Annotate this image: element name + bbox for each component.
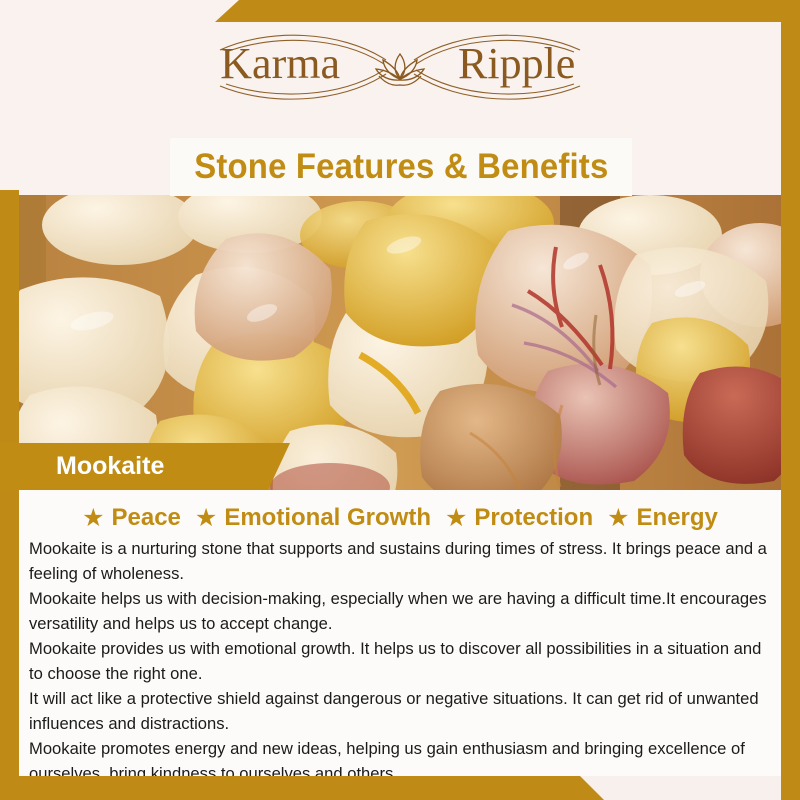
- frame-border-top: [215, 0, 800, 22]
- brand-word-right: Ripple: [458, 39, 575, 88]
- feature-item-energy: ★ Energy: [607, 504, 718, 532]
- page-title: Stone Features & Benefits: [194, 147, 608, 187]
- feature-label: Energy: [637, 504, 718, 532]
- paragraph: Mookaite is a nurturing stone that suppo…: [29, 536, 771, 586]
- feature-label: Emotional Growth: [224, 504, 431, 532]
- feature-label: Protection: [474, 504, 593, 532]
- frame-border-left: [0, 190, 19, 800]
- star-icon: ★: [607, 506, 629, 531]
- star-icon: ★: [445, 506, 467, 531]
- stone-name-banner: Mookaite: [0, 443, 290, 490]
- content-card: ★ Peace ★ Emotional Growth ★ Protection …: [19, 490, 781, 776]
- paragraph: It will act like a protective shield aga…: [29, 686, 771, 736]
- brand-word-left: Karma: [220, 39, 340, 88]
- paragraph: Mookaite helps us with decision-making, …: [29, 586, 771, 636]
- description-body: Mookaite is a nurturing stone that suppo…: [19, 536, 781, 786]
- brand-logo: Karma Ripple: [0, 24, 800, 110]
- feature-label: Peace: [112, 504, 181, 532]
- feature-item-peace: ★ Peace: [82, 504, 181, 532]
- feature-item-emotional-growth: ★ Emotional Growth: [195, 504, 431, 532]
- stone-features-infographic: Karma Ripple: [0, 0, 800, 800]
- frame-border-bottom: [0, 776, 604, 800]
- paragraph: Mookaite provides us with emotional grow…: [29, 636, 771, 686]
- star-icon: ★: [82, 506, 104, 531]
- karma-ripple-logo-graphic: Karma Ripple: [190, 24, 610, 110]
- page-title-banner: Stone Features & Benefits: [170, 138, 632, 196]
- feature-list: ★ Peace ★ Emotional Growth ★ Protection …: [19, 504, 781, 532]
- stone-name-label: Mookaite: [56, 452, 164, 481]
- star-icon: ★: [195, 506, 217, 531]
- frame-border-right: [781, 0, 800, 800]
- feature-item-protection: ★ Protection: [445, 504, 593, 532]
